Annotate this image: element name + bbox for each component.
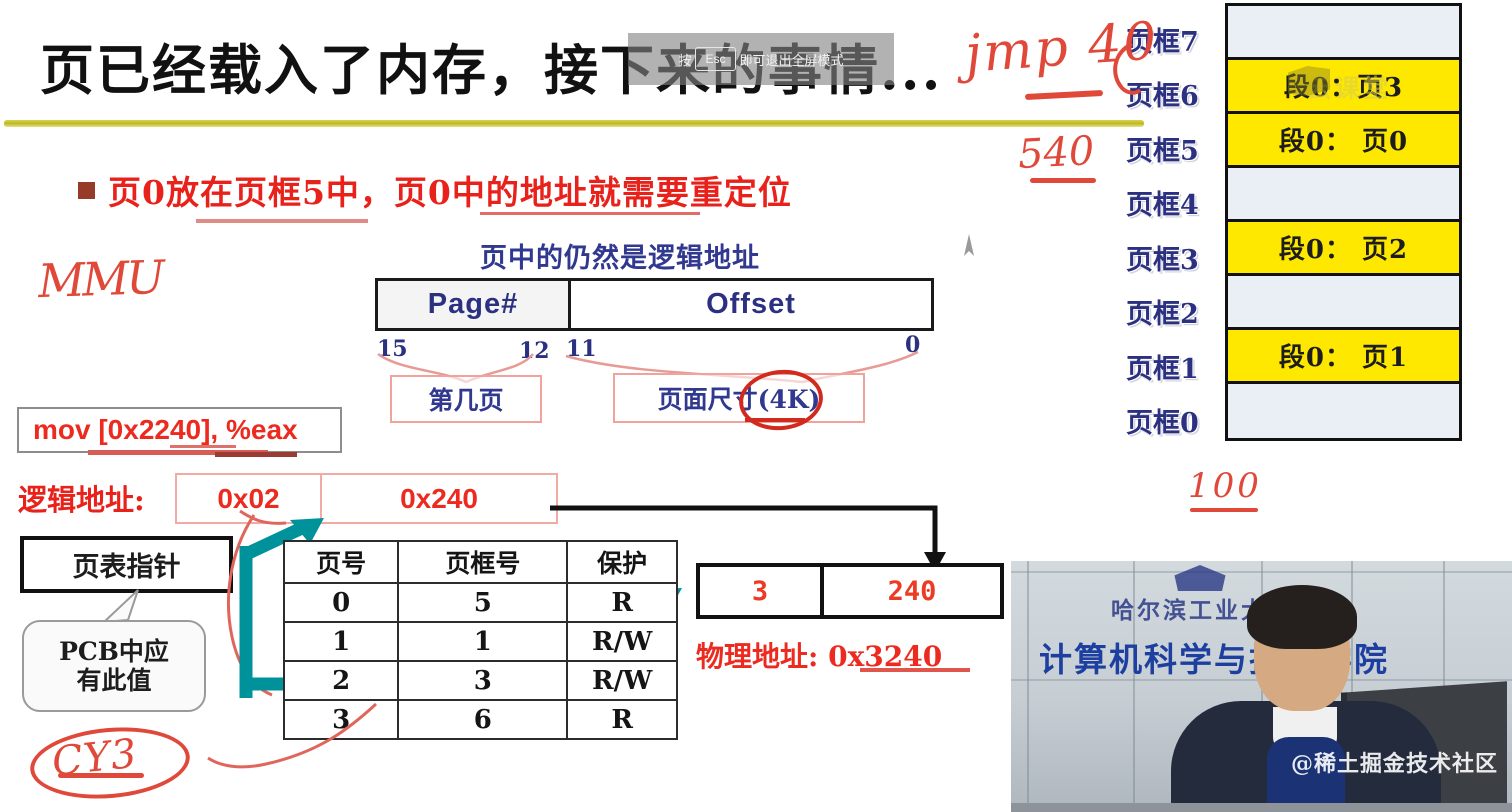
pcb-callout: PCB中应 有此值 [22,620,206,712]
ink-arrow-to-table [200,700,390,800]
logical-address-format-bar: Page# Offset [375,278,934,331]
memory-frame-4 [1228,168,1459,222]
table-row: 0 5 R [284,583,677,622]
cell-protection: R/W [567,622,677,661]
column-header-page-no: 页号 [284,541,398,583]
table-row: 1 1 R/W [284,622,677,661]
bullet-row: 页0放在页框5中，页0中的地址就需要重定位 [78,168,1008,214]
ink-underline-instruction-b [215,452,297,457]
pcb-callout-line1: PCB中应 [59,637,169,667]
ink-underline-instruction-c [170,445,236,448]
ink-100-underline [1190,508,1258,512]
hint-suffix: 即可退出全屏模式 [740,50,844,69]
cell-page-no: 0 [284,583,398,622]
ink-100-note: 100 [1188,466,1262,506]
table-header-row: 页号 页框号 保护 [284,541,677,583]
ink-jmp-underline [1025,90,1103,100]
fullscreen-exit-hint: 按 Esc 即可退出全屏模式 [628,33,894,85]
cell-frame-no: 1 [398,622,567,661]
ink-underline-physical-address [860,668,970,672]
annotation-page-number: 第几页 [390,375,542,423]
memory-frame-1: 段0： 页1 [1228,330,1459,384]
bullet-marker-icon [78,182,95,199]
memory-frame-3: 段0： 页2 [1228,222,1459,276]
frame-label-1: 页框1 [1126,337,1218,395]
ink-underline-4k [745,418,805,422]
physical-frame-part: 3 [700,567,824,615]
physical-offset-part: 240 [824,567,1000,615]
physical-address-bar: 3 240 [696,563,1004,619]
memory-frame-6-content: 段0：页3 [1284,67,1403,104]
ink-540-underline [1030,178,1096,183]
hint-prefix: 按 [678,50,691,69]
cell-page-no: 1 [284,622,398,661]
frame-label-5: 页框5 [1126,119,1218,177]
cell-page-no: 2 [284,661,398,700]
memory-frame-6: 段0：页3 云课堂 [1228,60,1459,114]
pip-watermark: @稀土掘金技术社区 [1291,746,1498,778]
logical-address-label: 逻辑地址: [18,477,145,519]
frame-label-0: 页框0 [1126,391,1218,449]
pen-cursor-icon [960,232,978,258]
frame-label-2: 页框2 [1126,282,1218,340]
memory-frame-7 [1228,6,1459,60]
offset-field: Offset [571,281,931,328]
cell-protection: R/W [567,661,677,700]
pip-lecturer-hair [1247,585,1357,649]
cell-protection: R [567,700,677,739]
memory-frame-0 [1228,384,1459,438]
column-header-frame-no: 页框号 [398,541,567,583]
table-row: 2 3 R/W [284,661,677,700]
callout-tail [98,588,142,624]
cell-frame-no: 5 [398,583,567,622]
bullet-underline-right [480,212,700,215]
cell-frame-no: 6 [398,700,567,739]
frame-label-3: 页框3 [1126,228,1218,286]
memory-frame-5-content: 段0： 页0 [1279,121,1408,158]
bullet-text: 页0放在页框5中，页0中的地址就需要重定位 [108,166,792,214]
ink-cy3-circle [27,721,192,805]
title-divider [4,120,1144,127]
video-picture-in-picture[interactable]: 哈尔滨工业大学 计算机科学与技术学院 @稀土掘金技术社区 [1011,561,1512,812]
bullet-underline-left [196,219,368,223]
memory-frame-2 [1228,276,1459,330]
sub-note-text: 页中的仍然是逻辑地址 [480,236,760,275]
ink-cy3-underline [58,773,144,778]
pip-grid-line [1027,561,1029,812]
pcb-callout-line2: 有此值 [76,666,151,696]
page-number-field: Page# [378,281,571,328]
frame-label-4: 页框4 [1126,173,1218,231]
ink-540-note: 540 [1017,128,1096,178]
cell-protection: R [567,583,677,622]
column-header-protection: 保护 [567,541,677,583]
memory-frames-column: 段0：页3 云课堂 段0： 页0 段0： 页2 段0： 页1 [1225,3,1462,441]
logical-offset-part: 0x240 [322,475,556,522]
pip-grid-line [1011,571,1512,573]
ink-mmu-note: MMU [37,250,163,308]
memory-frame-5: 段0： 页0 [1228,114,1459,168]
pip-desk [1011,803,1512,812]
cell-frame-no: 3 [398,661,567,700]
esc-key-badge: Esc [695,47,735,71]
